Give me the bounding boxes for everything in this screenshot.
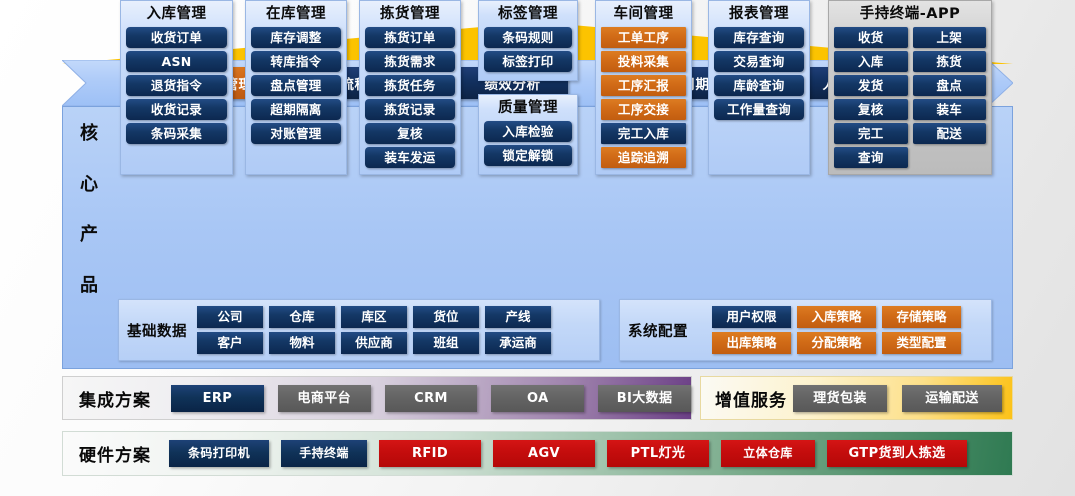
basic-data-items: 公司 仓库 库区 货位 产线 客户 物料 供应商 班组 承运商 xyxy=(197,306,551,354)
system-config-label: 系统配置 xyxy=(628,320,688,341)
hardware-title: 硬件方案 xyxy=(79,441,151,466)
btn-picking-demand[interactable]: 拣货需求 xyxy=(365,51,455,72)
tag-bi-bigdata[interactable]: BI大数据 xyxy=(598,385,691,412)
panel-picking: 拣货管理 拣货订单 拣货需求 拣货任务 拣货记录 复核 装车发运 xyxy=(359,0,461,175)
btn-warehouse[interactable]: 仓库 xyxy=(269,306,335,328)
btn-workload-query[interactable]: 工作量查询 xyxy=(714,99,804,120)
btn-customer[interactable]: 客户 xyxy=(197,332,263,354)
btn-stock-adjust[interactable]: 库存调整 xyxy=(251,27,341,48)
basic-data-label: 基础数据 xyxy=(127,320,187,341)
btn-overdue-quarantine[interactable]: 超期隔离 xyxy=(251,99,341,120)
tag-tally-packing[interactable]: 理货包装 xyxy=(793,385,887,412)
btn-loading-shipment[interactable]: 装车发运 xyxy=(365,147,455,168)
btn-team[interactable]: 班组 xyxy=(413,332,479,354)
btn-reconciliation-mgmt[interactable]: 对账管理 xyxy=(251,123,341,144)
panel-quality-mgmt-items: 入库检验 锁定解锁 xyxy=(484,121,572,166)
panel-label-mgmt-title: 标签管理 xyxy=(484,4,572,24)
btn-location[interactable]: 货位 xyxy=(413,306,479,328)
btn-app-shipping[interactable]: 发货 xyxy=(834,75,908,96)
btn-company[interactable]: 公司 xyxy=(197,306,263,328)
panel-inbound-items: 收货订单 ASN 退货指令 收货记录 条码采集 xyxy=(126,27,227,144)
tag-barcode-printer[interactable]: 条码打印机 xyxy=(169,440,269,467)
btn-process-handover[interactable]: 工序交接 xyxy=(601,99,686,120)
hardware-row: 硬件方案 条码打印机 手持终端 RFID AGV PTL灯光 立体仓库 GTP货… xyxy=(62,431,1013,476)
btn-finished-inbound[interactable]: 完工入库 xyxy=(601,123,686,144)
btn-picking-task[interactable]: 拣货任务 xyxy=(365,75,455,96)
panel-workshop-title: 车间管理 xyxy=(601,4,686,24)
tag-erp[interactable]: ERP xyxy=(171,385,264,412)
btn-stock-age-query[interactable]: 库龄查询 xyxy=(714,75,804,96)
core-label-char-4: 品 xyxy=(80,277,98,295)
panel-report: 报表管理 库存查询 交易查询 库龄查询 工作量查询 xyxy=(708,0,810,175)
btn-allocation-strategy[interactable]: 分配策略 xyxy=(797,332,876,354)
panel-label-mgmt: 标签管理 条码规则 标签打印 xyxy=(478,0,578,81)
btn-label-print[interactable]: 标签打印 xyxy=(484,51,572,72)
btn-barcode-rule[interactable]: 条码规则 xyxy=(484,27,572,48)
tag-ptl-light[interactable]: PTL灯光 xyxy=(607,440,709,467)
btn-transaction-query[interactable]: 交易查询 xyxy=(714,51,804,72)
btn-storage-strategy[interactable]: 存储策略 xyxy=(882,306,961,328)
panel-workshop-items: 工单工序 投料采集 工序汇报 工序交接 完工入库 追踪追溯 xyxy=(601,27,686,168)
btn-carrier[interactable]: 承运商 xyxy=(485,332,551,354)
panel-inbound: 入库管理 收货订单 ASN 退货指令 收货记录 条码采集 xyxy=(120,0,233,175)
tag-oa[interactable]: OA xyxy=(491,385,584,412)
system-config-strip: 系统配置 用户权限 入库策略 存储策略 出库策略 分配策略 类型配置 xyxy=(619,299,992,361)
btn-process-report[interactable]: 工序汇报 xyxy=(601,75,686,96)
btn-app-finish[interactable]: 完工 xyxy=(834,123,908,144)
btn-app-review[interactable]: 复核 xyxy=(834,99,908,120)
core-label-char-3: 产 xyxy=(80,226,98,244)
panel-picking-items: 拣货订单 拣货需求 拣货任务 拣货记录 复核 装车发运 xyxy=(365,27,455,168)
btn-receiving-order[interactable]: 收货订单 xyxy=(126,27,227,48)
btn-app-inbound[interactable]: 入库 xyxy=(834,51,908,72)
btn-app-loading[interactable]: 装车 xyxy=(913,99,987,120)
btn-trace-tracking[interactable]: 追踪追溯 xyxy=(601,147,686,168)
panel-instock: 在库管理 库存调整 转库指令 盘点管理 超期隔离 对账管理 xyxy=(245,0,347,175)
system-config-items: 用户权限 入库策略 存储策略 出库策略 分配策略 类型配置 xyxy=(712,306,961,354)
panel-inbound-title: 入库管理 xyxy=(126,4,227,24)
basic-data-strip: 基础数据 公司 仓库 库区 货位 产线 客户 物料 供应商 班组 承运商 xyxy=(118,299,600,361)
tag-ecommerce-platform[interactable]: 电商平台 xyxy=(278,385,371,412)
value-added-title: 增值服务 xyxy=(715,386,787,411)
framework-diagram: 框 架 预警管理 流程优化 绩效分析 条码生命周期分析 人力分析 xyxy=(0,0,1075,496)
btn-picking-order[interactable]: 拣货订单 xyxy=(365,27,455,48)
btn-barcode-collect[interactable]: 条码采集 xyxy=(126,123,227,144)
btn-material[interactable]: 物料 xyxy=(269,332,335,354)
core-label-char-1: 核 xyxy=(80,125,98,143)
btn-asn[interactable]: ASN xyxy=(126,51,227,72)
btn-app-picking[interactable]: 拣货 xyxy=(913,51,987,72)
value-added-row: 增值服务 理货包装 运输配送 xyxy=(700,376,1013,420)
panel-report-items: 库存查询 交易查询 库龄查询 工作量查询 xyxy=(714,27,804,120)
btn-storage-zone[interactable]: 库区 xyxy=(341,306,407,328)
integration-title: 集成方案 xyxy=(79,386,151,411)
tag-crm[interactable]: CRM xyxy=(385,385,478,412)
btn-app-stocktake[interactable]: 盘点 xyxy=(913,75,987,96)
integration-row: 集成方案 ERP 电商平台 CRM OA BI大数据 xyxy=(62,376,692,420)
btn-app-putaway[interactable]: 上架 xyxy=(913,27,987,48)
btn-app-delivery[interactable]: 配送 xyxy=(913,123,987,144)
panel-quality-mgmt: 质量管理 入库检验 锁定解锁 xyxy=(478,94,578,175)
btn-app-receive[interactable]: 收货 xyxy=(834,27,908,48)
tag-transport-delivery[interactable]: 运输配送 xyxy=(902,385,1002,412)
btn-transfer-instruction[interactable]: 转库指令 xyxy=(251,51,341,72)
tag-rfid[interactable]: RFID xyxy=(379,440,481,467)
panel-workshop: 车间管理 工单工序 投料采集 工序汇报 工序交接 完工入库 追踪追溯 xyxy=(595,0,692,175)
panel-report-title: 报表管理 xyxy=(714,4,804,24)
panel-quality-mgmt-title: 质量管理 xyxy=(484,98,572,118)
btn-supplier[interactable]: 供应商 xyxy=(341,332,407,354)
btn-receiving-record[interactable]: 收货记录 xyxy=(126,99,227,120)
btn-stock-query[interactable]: 库存查询 xyxy=(714,27,804,48)
btn-lock-unlock[interactable]: 锁定解锁 xyxy=(484,145,572,166)
panel-picking-title: 拣货管理 xyxy=(365,4,455,24)
btn-user-permission[interactable]: 用户权限 xyxy=(712,306,791,328)
btn-inbound-strategy[interactable]: 入库策略 xyxy=(797,306,876,328)
panel-label-mgmt-items: 条码规则 标签打印 xyxy=(484,27,572,72)
panel-handheld-app-items: 收货 上架 入库 拣货 发货 盘点 复核 装车 完工 配送 查询 xyxy=(834,27,986,168)
tag-asrs[interactable]: 立体仓库 xyxy=(721,440,815,467)
panel-handheld-app-title: 手持终端-APP xyxy=(834,4,986,24)
btn-picking-review[interactable]: 复核 xyxy=(365,123,455,144)
core-label-char-2: 心 xyxy=(80,176,98,194)
panel-handheld-app: 手持终端-APP 收货 上架 入库 拣货 发货 盘点 复核 装车 完工 配送 查… xyxy=(828,0,992,175)
btn-inbound-inspection[interactable]: 入库检验 xyxy=(484,121,572,142)
tag-handheld-terminal[interactable]: 手持终端 xyxy=(281,440,367,467)
btn-return-instruction[interactable]: 退货指令 xyxy=(126,75,227,96)
btn-app-query[interactable]: 查询 xyxy=(834,147,908,168)
btn-work-order-process[interactable]: 工单工序 xyxy=(601,27,686,48)
tag-agv[interactable]: AGV xyxy=(493,440,595,467)
panel-instock-items: 库存调整 转库指令 盘点管理 超期隔离 对账管理 xyxy=(251,27,341,144)
btn-type-config[interactable]: 类型配置 xyxy=(882,332,961,354)
btn-outbound-strategy[interactable]: 出库策略 xyxy=(712,332,791,354)
tag-gtp-picking[interactable]: GTP货到人拣选 xyxy=(827,440,967,467)
btn-stocktake-mgmt[interactable]: 盘点管理 xyxy=(251,75,341,96)
panel-instock-title: 在库管理 xyxy=(251,4,341,24)
btn-production-line[interactable]: 产线 xyxy=(485,306,551,328)
core-product-label: 核 心 产 品 xyxy=(74,125,104,295)
btn-material-feed-collect[interactable]: 投料采集 xyxy=(601,51,686,72)
btn-picking-record[interactable]: 拣货记录 xyxy=(365,99,455,120)
